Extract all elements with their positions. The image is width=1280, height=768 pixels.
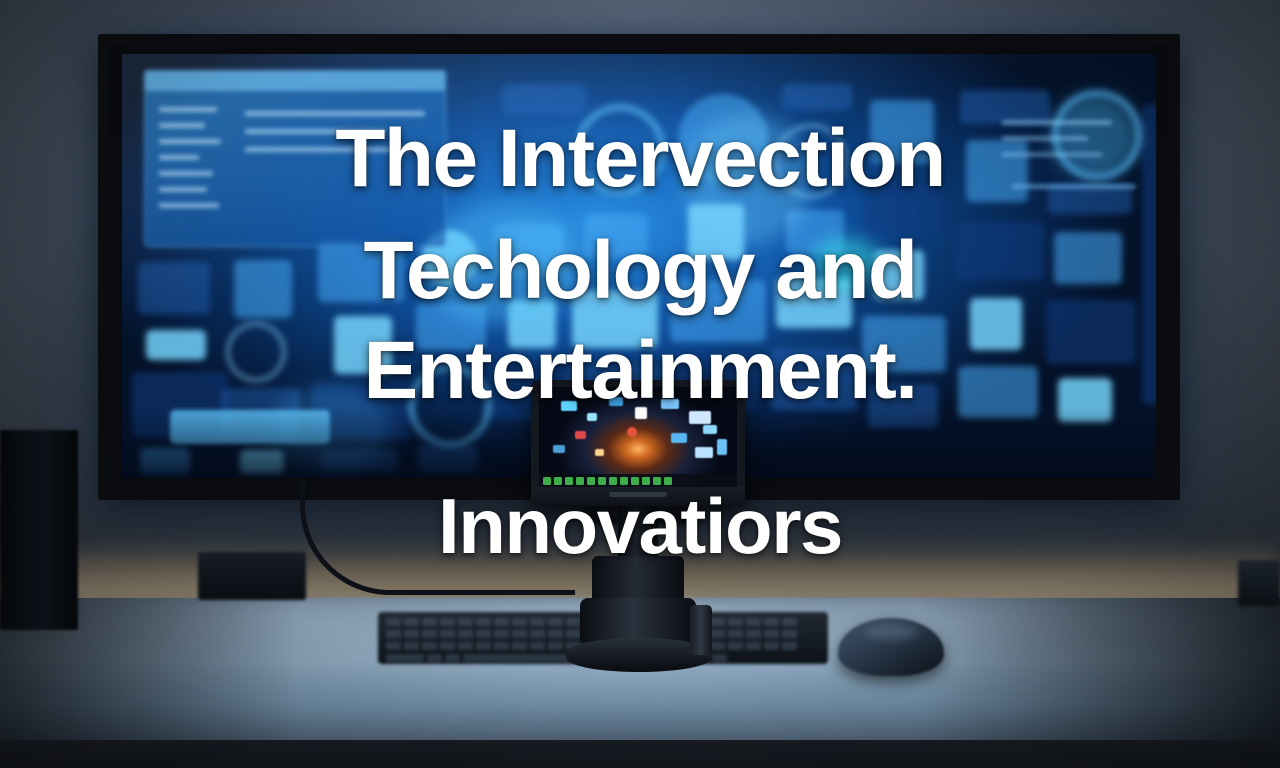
field-monitor-chin <box>531 487 745 506</box>
screen-glow-orb <box>422 204 582 324</box>
right-edge-device <box>1238 560 1280 606</box>
screen-ui-titlebar <box>145 71 445 91</box>
mouse-highlight <box>864 624 918 640</box>
taskbar-icon[interactable] <box>576 477 584 485</box>
taskbar-icon[interactable] <box>554 477 562 485</box>
taskbar-icon[interactable] <box>587 477 595 485</box>
tripod-adjust-knob[interactable] <box>690 605 712 655</box>
taskbar-icon[interactable] <box>565 477 573 485</box>
camera-field-monitor[interactable] <box>531 380 745 506</box>
taskbar-icon[interactable] <box>631 477 639 485</box>
desk-front-edge <box>0 740 1280 768</box>
screen-ui-window <box>144 70 446 247</box>
screen-ui-button <box>170 410 330 444</box>
field-monitor-notch <box>609 492 667 497</box>
field-monitor-taskbar[interactable] <box>539 474 737 487</box>
taskbar-icon[interactable] <box>620 477 628 485</box>
tripod-head <box>592 556 684 604</box>
desk-device-box <box>198 552 306 600</box>
taskbar-icon[interactable] <box>653 477 661 485</box>
desk-right-shadow <box>920 598 1280 748</box>
screen-glow-orb <box>682 114 812 244</box>
field-monitor-screen <box>539 387 737 487</box>
taskbar-icon[interactable] <box>598 477 606 485</box>
taskbar-icon[interactable] <box>642 477 650 485</box>
speaker-tower <box>0 430 78 630</box>
taskbar-icon[interactable] <box>609 477 617 485</box>
taskbar-icon[interactable] <box>664 477 672 485</box>
scene-root: The Intervection Techology and Entertain… <box>0 0 1280 768</box>
taskbar-icon[interactable] <box>543 477 551 485</box>
screen-glow-orb <box>810 238 880 290</box>
